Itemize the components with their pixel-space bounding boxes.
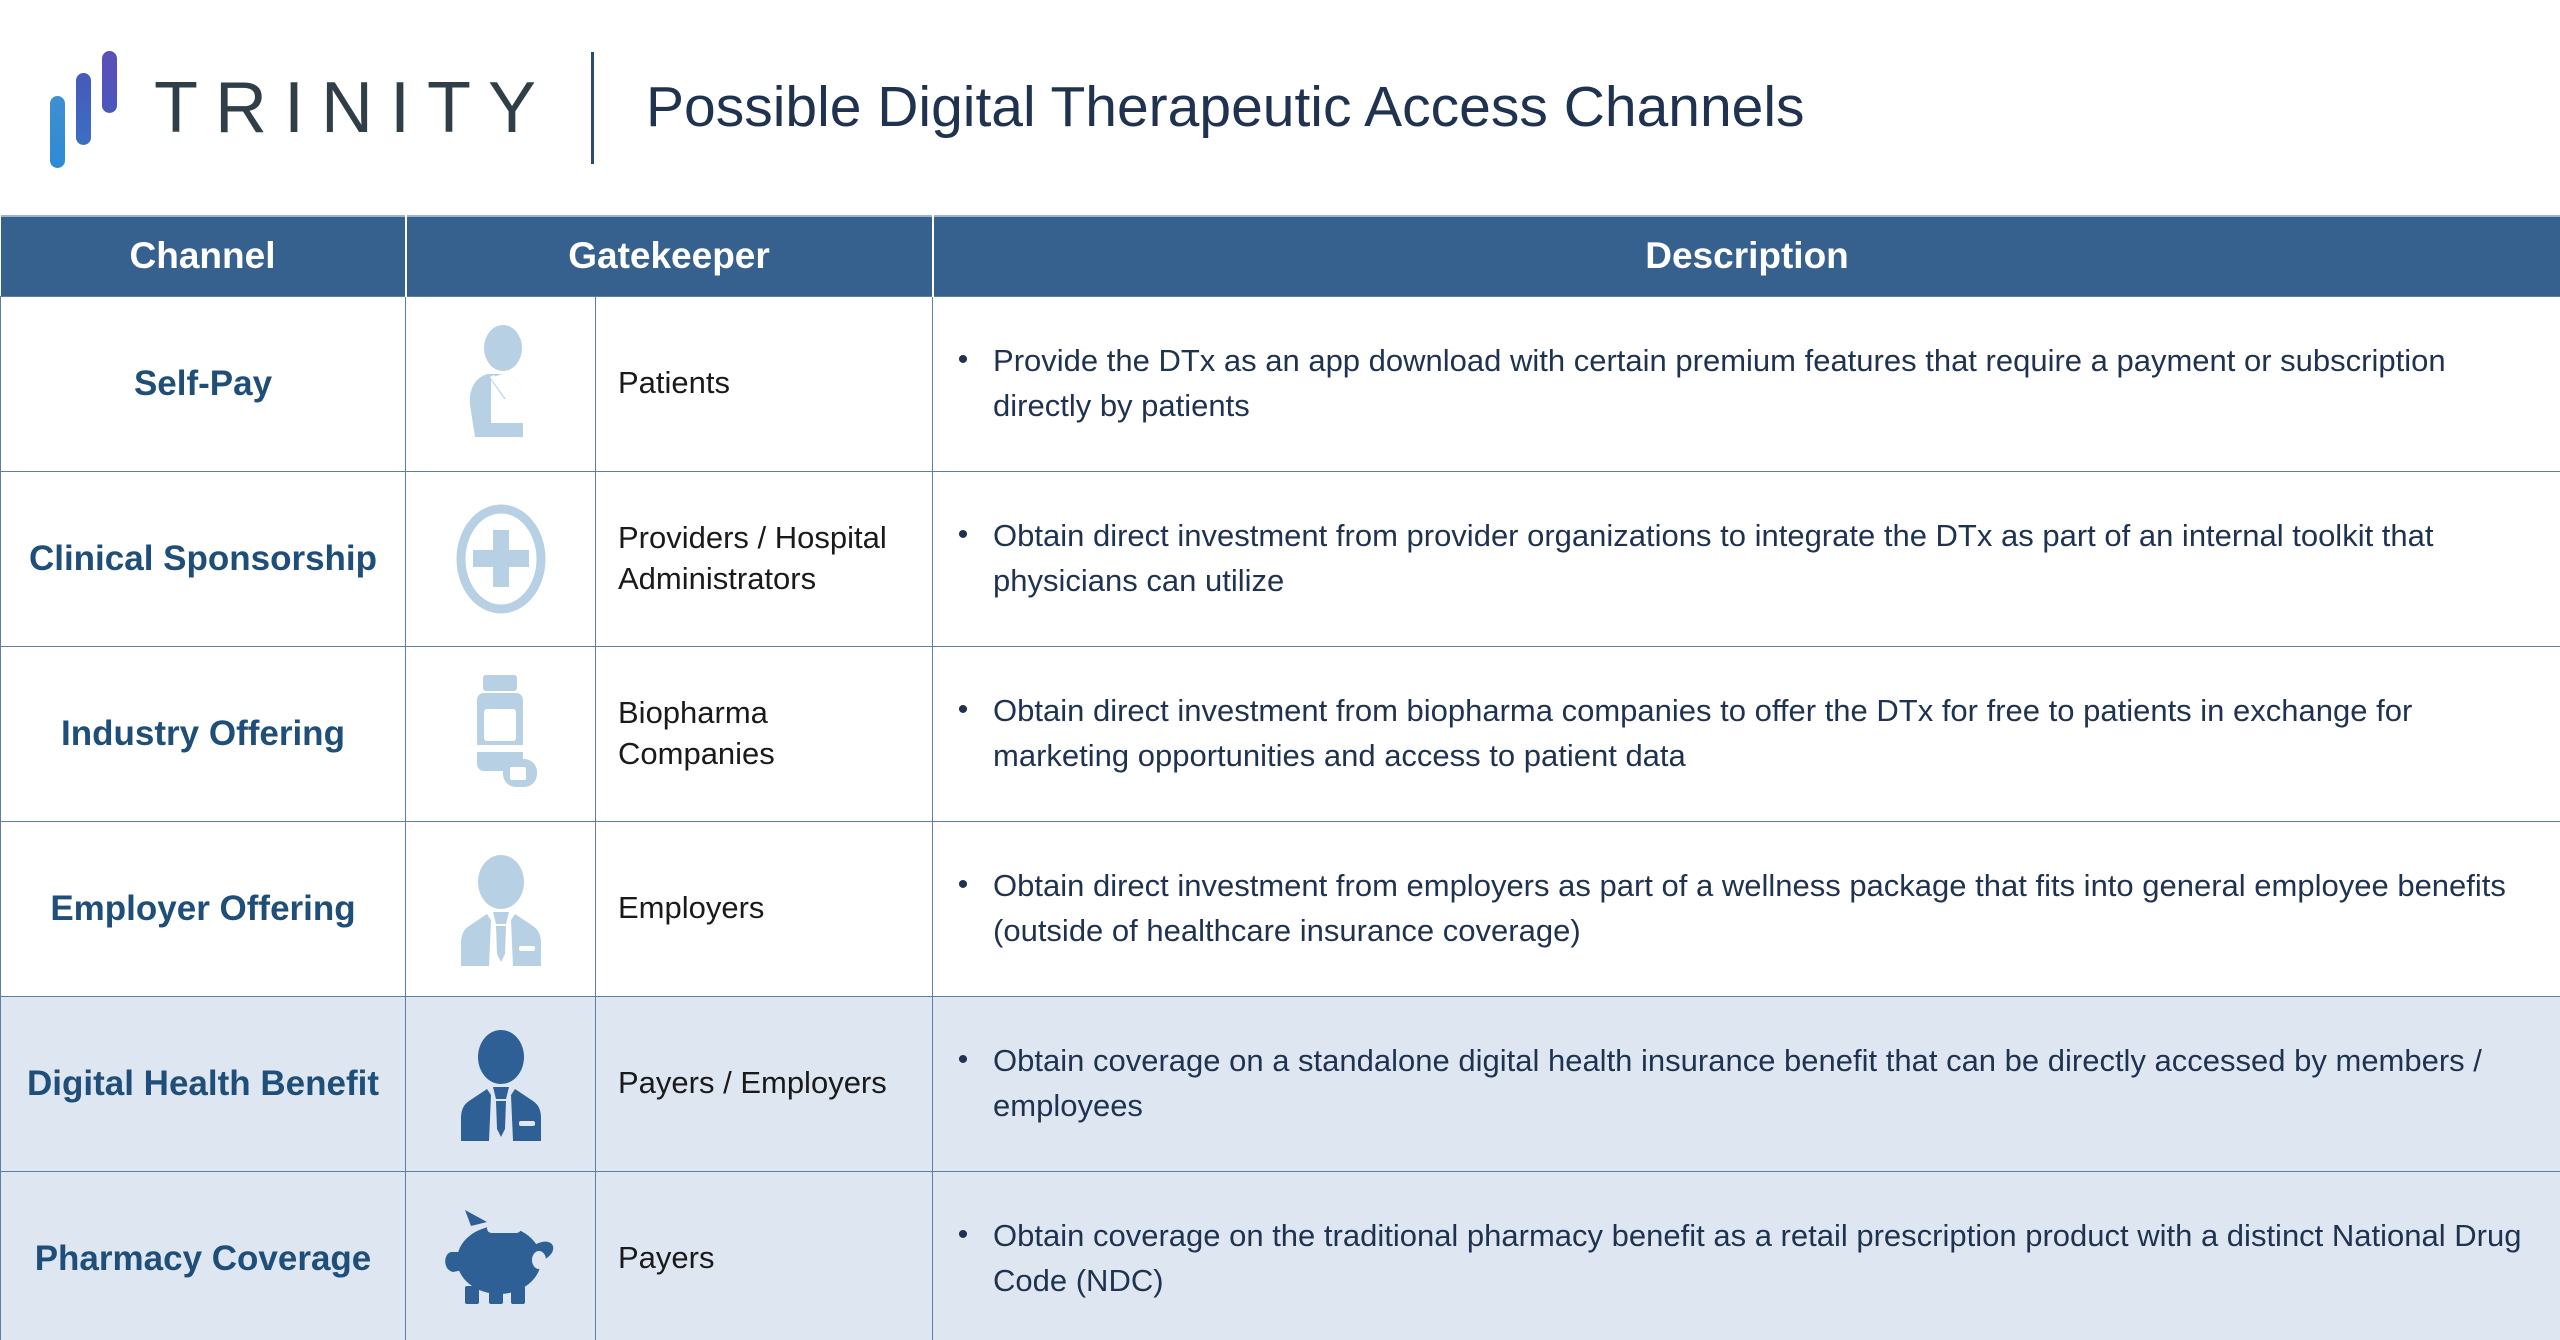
businessperson-icon bbox=[451, 850, 551, 968]
cell-icon bbox=[406, 821, 596, 996]
table-body: Self-Pay Patients • bbox=[1, 296, 2560, 1340]
column-header-gatekeeper: Gatekeeper bbox=[406, 216, 933, 296]
cell-icon bbox=[406, 1171, 596, 1340]
logo-bar-right bbox=[102, 51, 117, 113]
table-row: Pharmacy Coverage Payers bbox=[1, 1171, 2560, 1340]
table-row: Clinical Sponsorship Providers / Hospita… bbox=[1, 471, 2560, 646]
bullet-icon: • bbox=[955, 864, 971, 907]
cell-description: • Obtain coverage on the traditional pha… bbox=[933, 1171, 2560, 1340]
bullet-icon: • bbox=[955, 1214, 971, 1257]
cell-description: • Obtain coverage on a standalone digita… bbox=[933, 996, 2560, 1171]
table-header: Channel Gatekeeper Description bbox=[1, 216, 2560, 296]
description-text: Obtain direct investment from employers … bbox=[993, 864, 2530, 952]
trinity-logo: TRINITY bbox=[48, 48, 553, 168]
cell-gatekeeper: Biopharma Companies bbox=[596, 646, 933, 821]
cell-channel: Pharmacy Coverage bbox=[1, 1171, 406, 1340]
trinity-bars-logo-icon bbox=[48, 48, 120, 168]
slide-root: TRINITY Possible Digital Therapeutic Acc… bbox=[0, 0, 2560, 1340]
table-row: Industry Offering Biopharma Companies • bbox=[1, 646, 2560, 821]
cell-icon bbox=[406, 471, 596, 646]
description-text: Provide the DTx as an app download with … bbox=[993, 339, 2530, 427]
piggy-bank-icon bbox=[441, 1208, 561, 1310]
table-header-row: Channel Gatekeeper Description bbox=[1, 216, 2560, 296]
bullet-icon: • bbox=[955, 689, 971, 732]
cell-gatekeeper: Payers / Employers bbox=[596, 996, 933, 1171]
cell-gatekeeper: Employers bbox=[596, 821, 933, 996]
cell-description: • Provide the DTx as an app download wit… bbox=[933, 296, 2560, 471]
bullet-icon: • bbox=[955, 514, 971, 557]
cell-icon bbox=[406, 646, 596, 821]
cell-channel: Digital Health Benefit bbox=[1, 996, 406, 1171]
cell-channel: Industry Offering bbox=[1, 646, 406, 821]
logo-bar-middle bbox=[76, 73, 91, 145]
medical-cross-circle-icon bbox=[450, 500, 552, 618]
cell-icon bbox=[406, 996, 596, 1171]
cell-channel: Employer Offering bbox=[1, 821, 406, 996]
description-text: Obtain coverage on a standalone digital … bbox=[993, 1039, 2530, 1127]
patient-arm-sling-icon bbox=[453, 325, 549, 443]
businessperson-icon bbox=[451, 1025, 551, 1143]
cell-channel: Clinical Sponsorship bbox=[1, 471, 406, 646]
slide-header: TRINITY Possible Digital Therapeutic Acc… bbox=[0, 0, 2560, 215]
cell-description: • Obtain direct investment from biopharm… bbox=[933, 646, 2560, 821]
pill-bottle-icon bbox=[455, 673, 547, 795]
cell-gatekeeper: Providers / Hospital Administrators bbox=[596, 471, 933, 646]
column-header-description: Description bbox=[933, 216, 2560, 296]
logo-bar-left bbox=[50, 96, 65, 168]
cell-channel: Self-Pay bbox=[1, 296, 406, 471]
cell-description: • Obtain direct investment from employer… bbox=[933, 821, 2560, 996]
table-row: Digital Health Benefit Payers / Employer… bbox=[1, 996, 2560, 1171]
cell-gatekeeper: Payers bbox=[596, 1171, 933, 1340]
description-text: Obtain direct investment from provider o… bbox=[993, 514, 2530, 602]
bullet-icon: • bbox=[955, 1039, 971, 1082]
column-header-channel: Channel bbox=[1, 216, 406, 296]
description-text: Obtain coverage on the traditional pharm… bbox=[993, 1214, 2530, 1302]
bullet-icon: • bbox=[955, 339, 971, 382]
cell-icon bbox=[406, 296, 596, 471]
table-row: Employer Offering Employers • bbox=[1, 821, 2560, 996]
header-divider bbox=[591, 52, 594, 164]
cell-gatekeeper: Patients bbox=[596, 296, 933, 471]
access-channels-table: Channel Gatekeeper Description Self-Pay bbox=[0, 215, 2560, 1340]
cell-description: • Obtain direct investment from provider… bbox=[933, 471, 2560, 646]
brand-wordmark: TRINITY bbox=[154, 72, 553, 144]
description-text: Obtain direct investment from biopharma … bbox=[993, 689, 2530, 777]
page-title: Possible Digital Therapeutic Access Chan… bbox=[646, 76, 1805, 139]
table-row: Self-Pay Patients • bbox=[1, 296, 2560, 471]
